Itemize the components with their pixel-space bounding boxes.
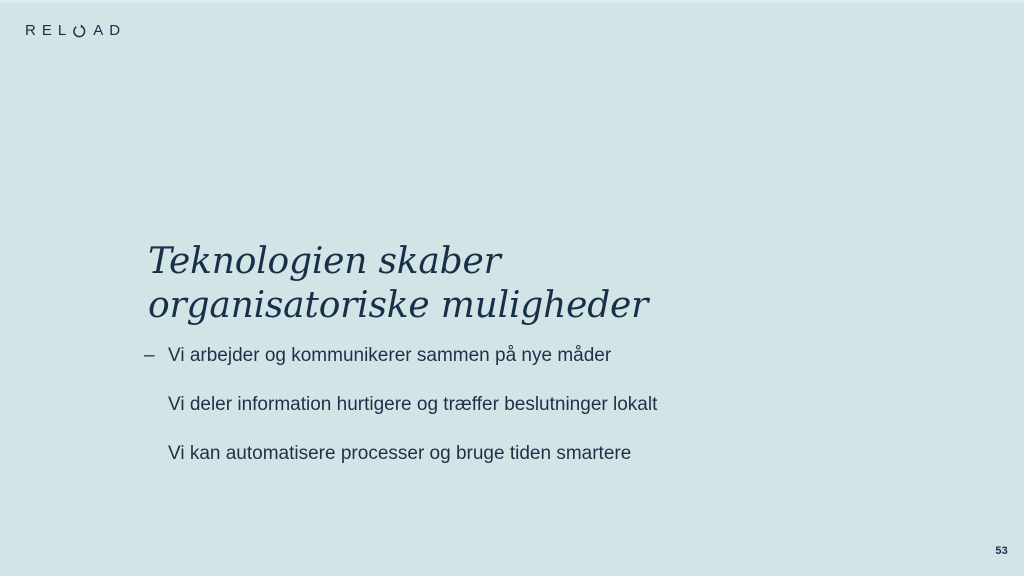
reload-arrow-o-icon <box>72 24 87 39</box>
page-number: 53 <box>995 545 1008 557</box>
bullet-text: Vi deler information hurtigere og træffe… <box>168 393 884 417</box>
bullet-text: Vi arbejder og kommunikerer sammen på ny… <box>168 344 884 368</box>
slide-content: Teknologien skaber organisatoriske mulig… <box>144 240 884 466</box>
list-item: Vi kan automatisere processer og bruge t… <box>144 442 884 466</box>
reload-logo[interactable]: R E L A D <box>25 21 120 41</box>
logo-letter-a: A <box>93 21 103 41</box>
bullet-list: – Vi arbejder og kommunikerer sammen på … <box>144 344 884 466</box>
logo-letter-l: L <box>58 21 66 41</box>
page-title: Teknologien skaber organisatoriske mulig… <box>144 240 748 328</box>
slide-top-edge <box>0 0 1024 3</box>
list-item: Vi deler information hurtigere og træffe… <box>144 393 884 417</box>
presentation-slide: R E L A D Teknologien skaber organisator… <box>0 0 1024 576</box>
logo-letter-d: D <box>109 21 120 41</box>
bullet-marker: – <box>144 344 168 368</box>
bullet-text: Vi kan automatisere processer og bruge t… <box>168 442 884 466</box>
logo-letter-r: R <box>25 21 36 41</box>
list-item: – Vi arbejder og kommunikerer sammen på … <box>144 344 884 368</box>
logo-letter-e: E <box>42 21 52 41</box>
